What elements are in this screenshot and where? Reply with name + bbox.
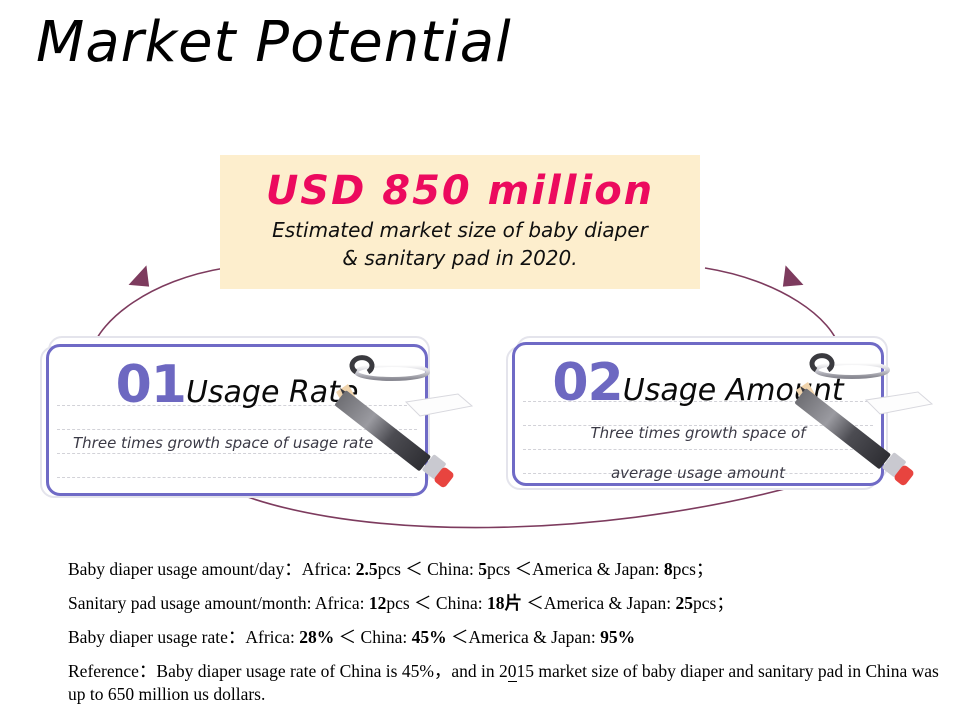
notes-line-3-lead: Baby diaper usage rate： (68, 627, 245, 647)
card-2-body-line-2: average usage amount (525, 463, 871, 483)
slide-canvas: Market Potential USD 850 million Estimat… (0, 0, 960, 720)
card-2-header: 02 Usage Amount (515, 357, 881, 409)
card-usage-rate[interactable]: 01 Usage Rate Three times growth space o… (46, 344, 428, 496)
callout-subtitle-line-1: Estimated market size of baby diaper (220, 217, 700, 243)
notes-block: Baby diaper usage amount/day：Africa: 2.5… (68, 558, 944, 717)
page-title: Market Potential (36, 8, 512, 78)
card-usage-amount[interactable]: 02 Usage Amount Three times growth space… (512, 342, 884, 486)
card-2-number: 02 (552, 357, 622, 409)
market-size-callout: USD 850 million Estimated market size of… (220, 155, 700, 289)
notes-line-1-lead: Baby diaper usage amount/day： (68, 559, 302, 579)
card-1-number: 01 (116, 359, 186, 411)
arrowhead-right-icon (779, 265, 807, 292)
card-2-heading: Usage Amount (623, 374, 844, 408)
notes-line-1: Baby diaper usage amount/day：Africa: 2.5… (68, 558, 944, 581)
callout-headline: USD 850 million (220, 167, 700, 215)
notes-line-2-lead: Sanitary pad usage amount/month: (68, 593, 315, 613)
notes-line-2: Sanitary pad usage amount/month: Africa:… (68, 592, 944, 615)
card-2-body-line-1: Three times growth space of (525, 423, 871, 443)
notes-line-1-segments: Africa: 2.5pcs ＜ China: 5pcs ＜America & … (302, 559, 714, 579)
notes-line-2-segments: Africa: 12pcs ＜ China: 18片 ＜America & Ja… (315, 593, 734, 613)
arrowhead-left-icon (125, 265, 153, 292)
notes-line-3: Baby diaper usage rate：Africa: 28% ＜ Chi… (68, 626, 944, 649)
notes-line-4-part-a: Reference：Baby diaper usage rate of Chin… (68, 661, 508, 681)
card-1-body-line-1: Three times growth space of usage rate (59, 433, 415, 453)
notes-line-3-segments: Africa: 28% ＜ China: 45% ＜America & Japa… (245, 627, 635, 647)
card-1-heading: Usage Rate (186, 376, 358, 410)
callout-subtitle-line-2: & sanitary pad in 2020. (220, 245, 700, 271)
notes-line-4: Reference：Baby diaper usage rate of Chin… (68, 660, 944, 706)
card-1-header: 01 Usage Rate (49, 359, 425, 411)
notes-line-4-underlined: 0 (508, 661, 517, 682)
